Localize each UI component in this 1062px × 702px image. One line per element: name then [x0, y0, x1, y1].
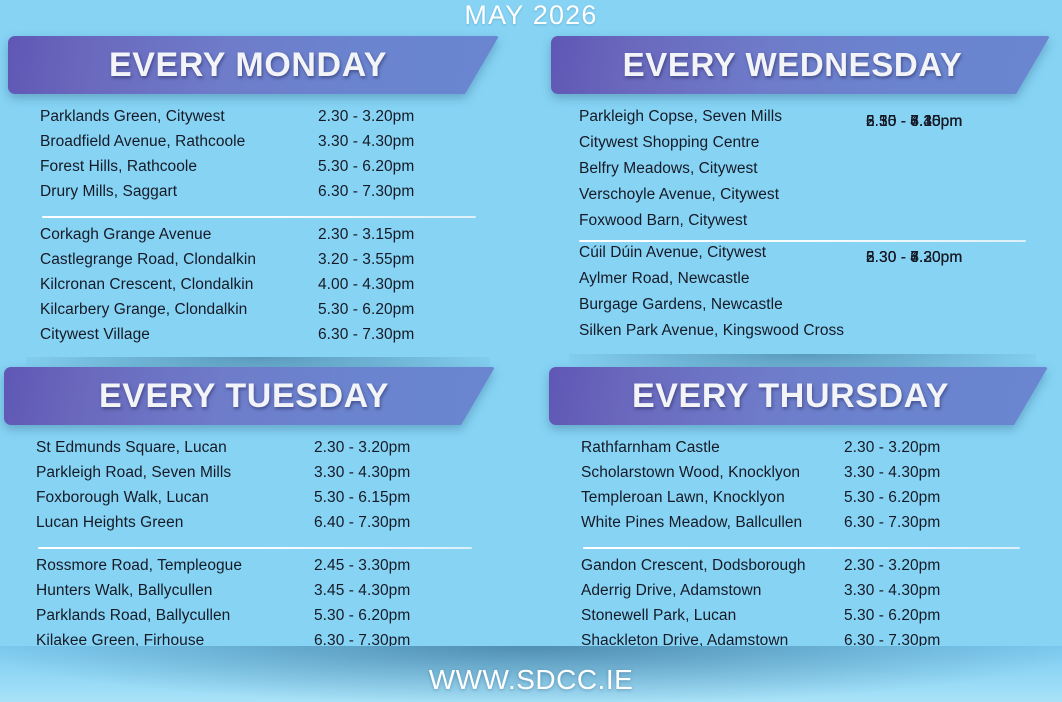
time-label: 2.30 - 3.20pm: [844, 439, 940, 457]
schedule-row: Broadfield Avenue, Rathcoole 3.30 - 4.30…: [8, 133, 508, 158]
time-label: 5.30 - 6.20pm: [318, 158, 414, 176]
schedule-row: Cúil Dúin Avenue, Citywest 2.30 - 3.20pm: [551, 244, 1054, 270]
location-label: Forest Hills, Rathcoole: [40, 158, 197, 176]
time-label: 2.30 - 3.20pm: [844, 557, 940, 575]
group-divider: [38, 547, 472, 549]
location-label: Belfry Meadows, Citywest: [579, 160, 758, 178]
location-label: Citywest Shopping Centre: [579, 134, 759, 152]
time-label: 3.30 - 4.30pm: [318, 133, 414, 151]
location-label: Drury Mills, Saggart: [40, 183, 177, 201]
day-banner-label-thursday: EVERY THURSDAY: [549, 367, 1052, 425]
location-label: White Pines Meadow, Ballcullen: [581, 514, 802, 532]
location-label: Hunters Walk, Ballycullen: [36, 582, 212, 600]
schedule-row: Lucan Heights Green 6.40 - 7.30pm: [4, 514, 504, 539]
schedule-row: Foxborough Walk, Lucan 5.30 - 6.15pm: [4, 489, 504, 514]
location-label: Citywest Village: [40, 326, 150, 344]
time-label: 3.30 - 4.30pm: [844, 464, 940, 482]
page-title: MAY 2026: [0, 0, 1062, 31]
time-label: 2.30 - 3.20pm: [318, 108, 414, 126]
schedule-row: Stonewell Park, Lucan 5.30 - 6.20pm: [549, 607, 1052, 632]
footer-bar: WWW.SDCC.IE: [0, 646, 1062, 702]
location-label: St Edmunds Square, Lucan: [36, 439, 227, 457]
schedule-row: Scholarstown Wood, Knocklyon 3.30 - 4.30…: [549, 464, 1052, 489]
location-label: Aylmer Road, Newcastle: [579, 270, 750, 288]
schedule-group: Gandon Crescent, Dodsborough 2.30 - 3.20…: [549, 557, 1052, 657]
location-label: Castlegrange Road, Clondalkin: [40, 251, 256, 269]
schedule-row: White Pines Meadow, Ballcullen 6.30 - 7.…: [549, 514, 1052, 539]
location-label: Parklands Road, Ballycullen: [36, 607, 230, 625]
time-label: 6.30 - 7.30pm: [318, 326, 414, 344]
location-label: Templeroan Lawn, Knocklyon: [581, 489, 785, 507]
schedule-row: Citywest Shopping Centre 3.30 - 4.30pm: [551, 134, 1054, 160]
schedule-row: Gandon Crescent, Dodsborough 2.30 - 3.20…: [549, 557, 1052, 582]
time-label: 3.30 - 4.30pm: [314, 464, 410, 482]
location-label: Rossmore Road, Templeogue: [36, 557, 242, 575]
schedule-row: Drury Mills, Saggart 6.30 - 7.30pm: [8, 183, 508, 208]
group-divider: [583, 547, 1020, 549]
schedule-group: Parkleigh Copse, Seven Mills 2.30 - 3.15…: [551, 108, 1054, 238]
location-label: Parkleigh Road, Seven Mills: [36, 464, 231, 482]
location-label: Gandon Crescent, Dodsborough: [581, 557, 806, 575]
location-label: Silken Park Avenue, Kingswood Cross: [579, 322, 844, 340]
banner-wrap-tuesday: EVERY TUESDAY: [4, 367, 504, 425]
schedule-list-thursday: Rathfarnham Castle 2.30 - 3.20pm Scholar…: [549, 439, 1052, 669]
location-label: Broadfield Avenue, Rathcoole: [40, 133, 245, 151]
schedule-row: Foxwood Barn, Citywest 6.50 - 7.30pm: [551, 212, 1054, 238]
schedule-row: Hunters Walk, Ballycullen 3.45 - 4.30pm: [4, 582, 504, 607]
day-panel-wednesday: EVERY WEDNESDAY Parkleigh Copse, Seven M…: [551, 36, 1054, 360]
banner-wrap-monday: EVERY MONDAY: [8, 36, 508, 94]
schedule-group: Rathfarnham Castle 2.30 - 3.20pm Scholar…: [549, 439, 1052, 539]
schedule-row: Citywest Village 6.30 - 7.30pm: [8, 326, 508, 351]
schedule-row: Parkleigh Copse, Seven Mills 2.30 - 3.15…: [551, 108, 1054, 134]
time-label: 6.40 - 7.30pm: [314, 514, 410, 532]
location-label: Verschoyle Avenue, Citywest: [579, 186, 779, 204]
location-label: Foxborough Walk, Lucan: [36, 489, 209, 507]
schedule-row: Silken Park Avenue, Kingswood Cross 6.30…: [551, 322, 1054, 348]
time-label: 5.30 - 6.20pm: [844, 489, 940, 507]
schedule-row: Aderrig Drive, Adamstown 3.30 - 4.30pm: [549, 582, 1052, 607]
schedule-group: Parklands Green, Citywest 2.30 - 3.20pm …: [8, 108, 508, 208]
time-label: 6.30 - 7.30pm: [318, 183, 414, 201]
time-label: 5.30 - 6.20pm: [318, 301, 414, 319]
website-link[interactable]: WWW.SDCC.IE: [0, 664, 1062, 696]
banner-wrap-wednesday: EVERY WEDNESDAY: [551, 36, 1054, 94]
banner-wrap-thursday: EVERY THURSDAY: [549, 367, 1052, 425]
schedule-row: Rossmore Road, Templeogue 2.45 - 3.30pm: [4, 557, 504, 582]
location-label: Rathfarnham Castle: [581, 439, 720, 457]
location-label: Kilcarbery Grange, Clondalkin: [40, 301, 247, 319]
time-label: 5.30 - 6.20pm: [314, 607, 410, 625]
group-divider: [579, 240, 1026, 242]
time-label: 2.45 - 3.30pm: [314, 557, 410, 575]
schedule-list-monday: Parklands Green, Citywest 2.30 - 3.20pm …: [8, 108, 508, 363]
time-label: 2.30 - 3.20pm: [314, 439, 410, 457]
schedule-group: St Edmunds Square, Lucan 2.30 - 3.20pm P…: [4, 439, 504, 539]
day-banner-label-tuesday: EVERY TUESDAY: [4, 367, 504, 425]
time-label: 5.30 - 6.15pm: [314, 489, 410, 507]
schedule-row: Castlegrange Road, Clondalkin 3.20 - 3.5…: [8, 251, 508, 276]
schedule-list-tuesday: St Edmunds Square, Lucan 2.30 - 3.20pm P…: [4, 439, 504, 669]
schedule-row: Parklands Road, Ballycullen 5.30 - 6.20p…: [4, 607, 504, 632]
schedule-row: Parklands Green, Citywest 2.30 - 3.20pm: [8, 108, 508, 133]
location-label: Parklands Green, Citywest: [40, 108, 225, 126]
schedule-row: Kilcronan Crescent, Clondalkin 4.00 - 4.…: [8, 276, 508, 301]
day-banner-label-monday: EVERY MONDAY: [8, 36, 508, 94]
time-label: 3.45 - 4.30pm: [314, 582, 410, 600]
location-label: Corkagh Grange Avenue: [40, 226, 211, 244]
location-label: Lucan Heights Green: [36, 514, 183, 532]
time-label: 3.30 - 4.30pm: [844, 582, 940, 600]
time-label: 2.30 - 3.15pm: [318, 226, 414, 244]
schedule-row: Aylmer Road, Newcastle 3.30 - 4.30pm: [551, 270, 1054, 296]
schedule-row: St Edmunds Square, Lucan 2.30 - 3.20pm: [4, 439, 504, 464]
time-label: 3.20 - 3.55pm: [318, 251, 414, 269]
schedule-row: Verschoyle Avenue, Citywest 6.15 - 6.45p…: [551, 186, 1054, 212]
day-panel-thursday: EVERY THURSDAY Rathfarnham Castle 2.30 -…: [549, 367, 1052, 669]
day-panel-monday: EVERY MONDAY Parklands Green, Citywest 2…: [8, 36, 508, 363]
location-label: Scholarstown Wood, Knocklyon: [581, 464, 800, 482]
schedule-row: Belfry Meadows, Citywest 5.30 - 6.10pm: [551, 160, 1054, 186]
time-label: 6.30 - 7.30pm: [866, 249, 962, 267]
schedule-group: Cúil Dúin Avenue, Citywest 2.30 - 3.20pm…: [551, 244, 1054, 348]
day-banner-label-wednesday: EVERY WEDNESDAY: [551, 36, 1054, 94]
schedule-row: Kilcarbery Grange, Clondalkin 5.30 - 6.2…: [8, 301, 508, 326]
schedule-row: Burgage Gardens, Newcastle 5.30 - 6.20pm: [551, 296, 1054, 322]
location-label: Burgage Gardens, Newcastle: [579, 296, 783, 314]
schedule-row: Forest Hills, Rathcoole 5.30 - 6.20pm: [8, 158, 508, 183]
schedule-group: Corkagh Grange Avenue 2.30 - 3.15pm Cast…: [8, 226, 508, 351]
time-label: 6.50 - 7.30pm: [866, 113, 962, 131]
schedule-row: Parkleigh Road, Seven Mills 3.30 - 4.30p…: [4, 464, 504, 489]
schedule-row: Corkagh Grange Avenue 2.30 - 3.15pm: [8, 226, 508, 251]
location-label: Kilcronan Crescent, Clondalkin: [40, 276, 253, 294]
schedule-row: Templeroan Lawn, Knocklyon 5.30 - 6.20pm: [549, 489, 1052, 514]
schedule-list-wednesday: Parkleigh Copse, Seven Mills 2.30 - 3.15…: [551, 108, 1054, 360]
location-label: Aderrig Drive, Adamstown: [581, 582, 761, 600]
location-label: Stonewell Park, Lucan: [581, 607, 736, 625]
location-label: Foxwood Barn, Citywest: [579, 212, 747, 230]
schedule-group: Rossmore Road, Templeogue 2.45 - 3.30pm …: [4, 557, 504, 657]
group-divider: [42, 216, 476, 218]
time-label: 5.30 - 6.20pm: [844, 607, 940, 625]
time-label: 6.30 - 7.30pm: [844, 514, 940, 532]
day-panel-tuesday: EVERY TUESDAY St Edmunds Square, Lucan 2…: [4, 367, 504, 669]
time-label: 4.00 - 4.30pm: [318, 276, 414, 294]
schedule-row: Rathfarnham Castle 2.30 - 3.20pm: [549, 439, 1052, 464]
location-label: Cúil Dúin Avenue, Citywest: [579, 244, 766, 262]
location-label: Parkleigh Copse, Seven Mills: [579, 108, 782, 126]
